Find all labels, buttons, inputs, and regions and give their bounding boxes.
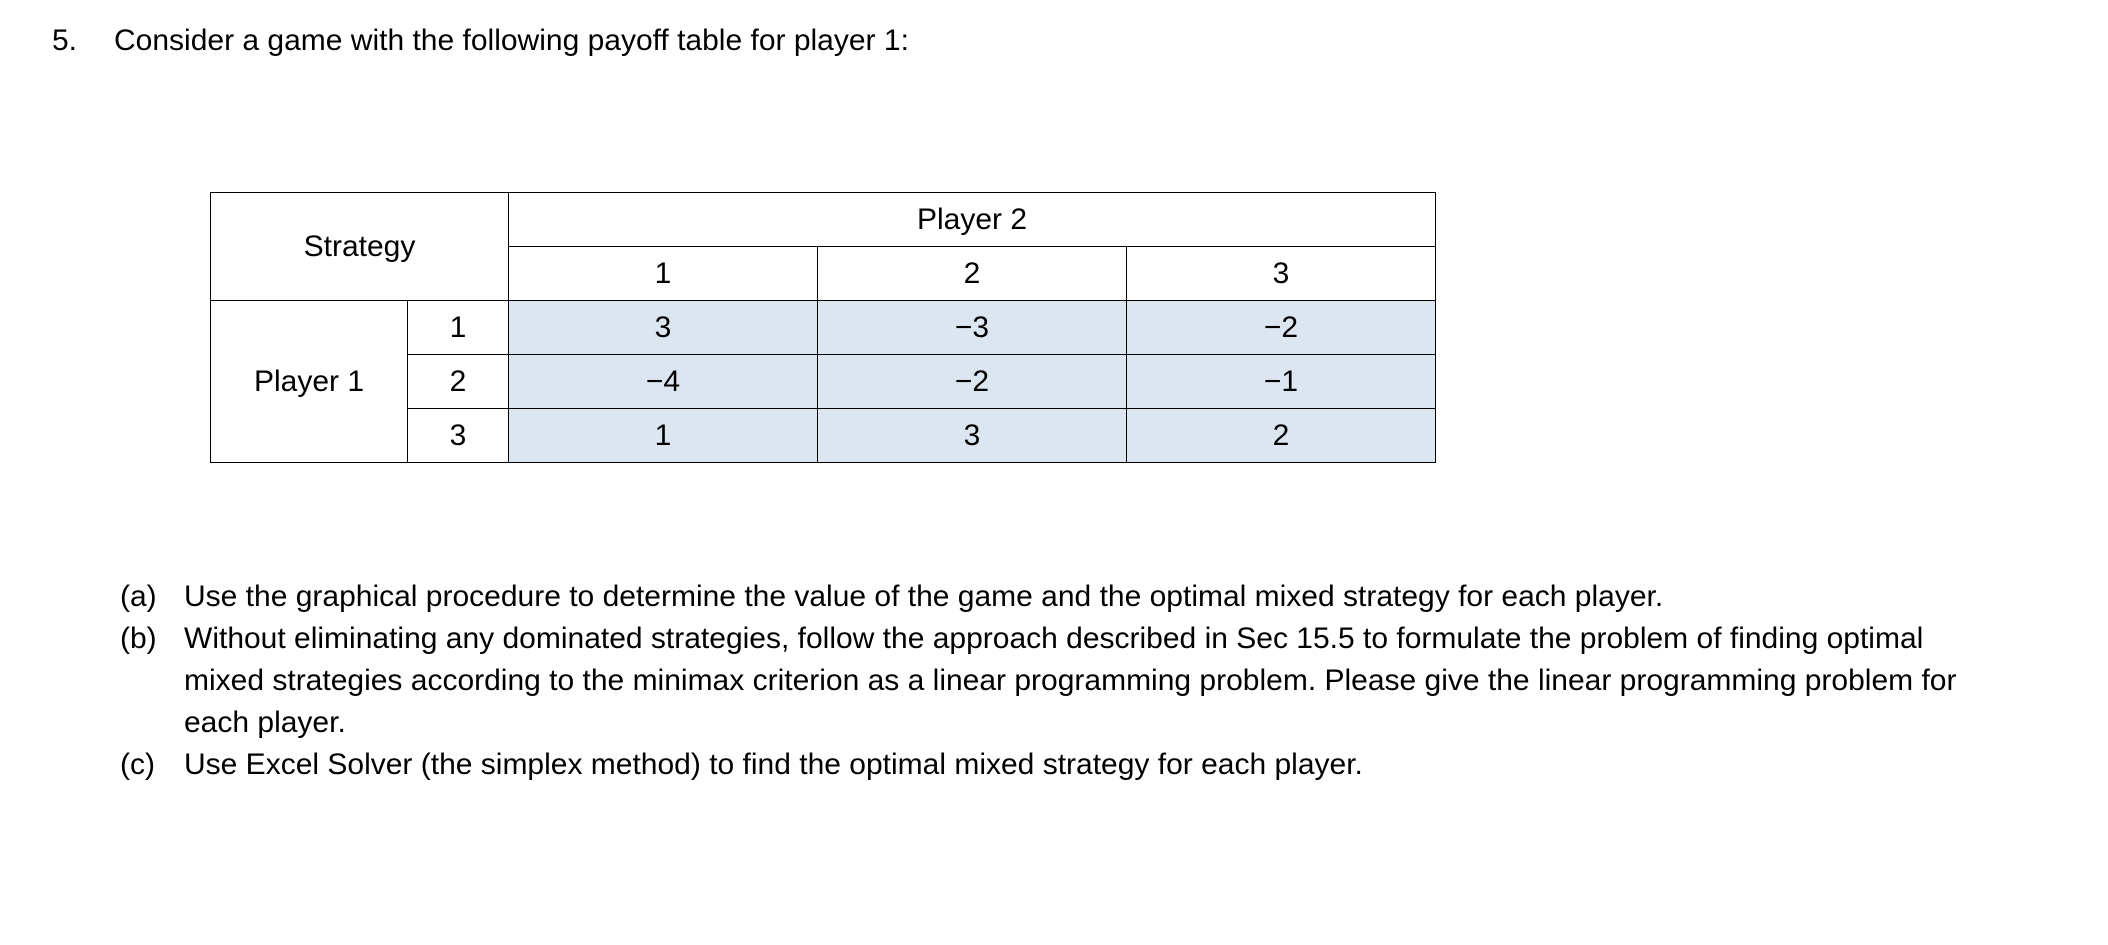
payoff-cell-r3c1: 1 <box>509 409 818 463</box>
payoff-table: Strategy Player 2 1 2 3 Player 1 1 3 −3 … <box>210 192 1436 463</box>
part-label-a: (a) <box>120 576 184 618</box>
question-part-b: (b) Without eliminating any dominated st… <box>120 618 2000 744</box>
table-row-header-2: 2 <box>408 355 509 409</box>
payoff-cell-r3c3: 2 <box>1127 409 1436 463</box>
table-corner-label: Strategy <box>211 193 509 301</box>
table-row-header-3: 3 <box>408 409 509 463</box>
table-row-group-label: Player 1 <box>211 301 408 463</box>
table-row: Player 1 1 3 −3 −2 <box>211 301 1436 355</box>
payoff-cell-r2c1: −4 <box>509 355 818 409</box>
payoff-cell-r1c2: −3 <box>818 301 1127 355</box>
question-parts-list: (a) Use the graphical procedure to deter… <box>120 576 2000 786</box>
payoff-cell-r3c2: 3 <box>818 409 1127 463</box>
payoff-cell-r2c3: −1 <box>1127 355 1436 409</box>
question-part-c: (c) Use Excel Solver (the simplex method… <box>120 744 2000 786</box>
table-column-header-1: 1 <box>509 247 818 301</box>
payoff-cell-r1c1: 3 <box>509 301 818 355</box>
question-part-a: (a) Use the graphical procedure to deter… <box>120 576 2000 618</box>
part-label-c: (c) <box>120 744 184 786</box>
document-page: 5. Consider a game with the following pa… <box>0 0 2108 945</box>
payoff-cell-r2c2: −2 <box>818 355 1127 409</box>
part-text-a: Use the graphical procedure to determine… <box>184 576 2000 618</box>
table-header-row-group: Strategy Player 2 <box>211 193 1436 247</box>
question-stem: 5. Consider a game with the following pa… <box>52 22 909 60</box>
payoff-table-container: Strategy Player 2 1 2 3 Player 1 1 3 −3 … <box>210 192 1436 463</box>
part-text-c: Use Excel Solver (the simplex method) to… <box>184 744 2000 786</box>
table-column-group-label: Player 2 <box>509 193 1436 247</box>
payoff-cell-r1c3: −2 <box>1127 301 1436 355</box>
part-text-b: Without eliminating any dominated strate… <box>184 618 2000 744</box>
table-row-header-1: 1 <box>408 301 509 355</box>
question-number: 5. <box>52 22 114 60</box>
table-column-header-3: 3 <box>1127 247 1436 301</box>
table-column-header-2: 2 <box>818 247 1127 301</box>
part-label-b: (b) <box>120 618 184 660</box>
question-stem-text: Consider a game with the following payof… <box>114 22 909 60</box>
